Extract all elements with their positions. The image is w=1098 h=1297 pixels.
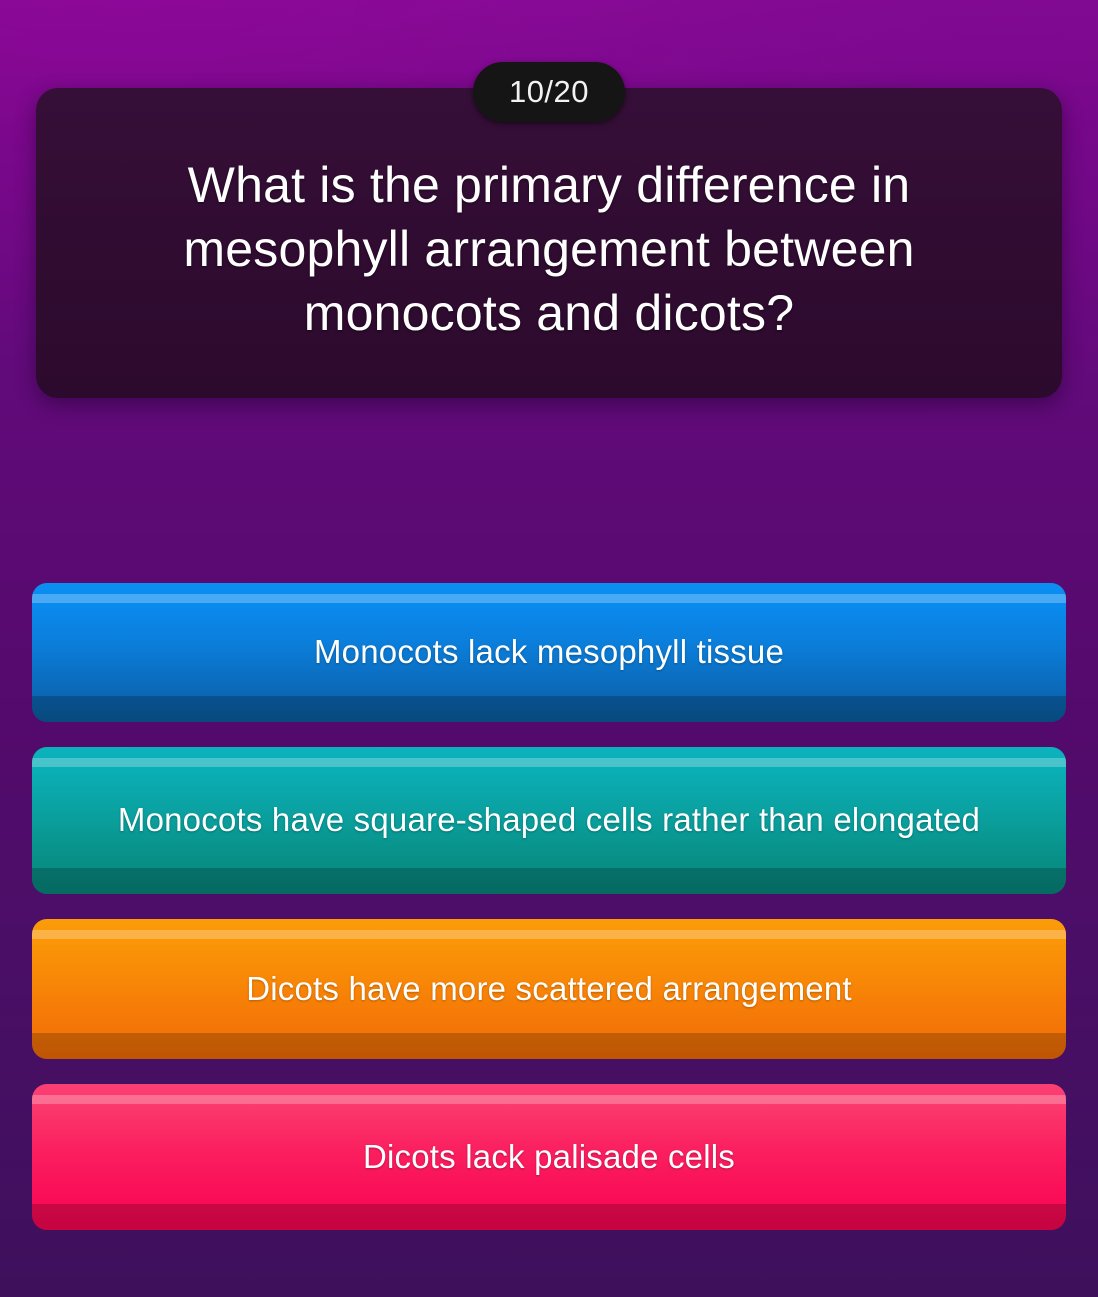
answer-option-b-label: Monocots have square-shaped cells rather… xyxy=(118,797,980,844)
question-card: What is the primary difference in mesoph… xyxy=(36,88,1062,398)
answer-option-d[interactable]: Dicots lack palisade cells xyxy=(32,1084,1066,1230)
answer-options-list: Monocots lack mesophyll tissue Monocots … xyxy=(32,583,1066,1255)
answer-option-c[interactable]: Dicots have more scattered arrangement xyxy=(32,919,1066,1059)
answer-option-b[interactable]: Monocots have square-shaped cells rather… xyxy=(32,747,1066,894)
answer-option-d-label: Dicots lack palisade cells xyxy=(363,1134,735,1181)
question-counter-badge: 10/20 xyxy=(473,62,625,122)
answer-option-a-label: Monocots lack mesophyll tissue xyxy=(314,629,784,676)
quiz-screen: 10/20 What is the primary difference in … xyxy=(0,0,1098,1297)
answer-option-a[interactable]: Monocots lack mesophyll tissue xyxy=(32,583,1066,722)
answer-option-c-label: Dicots have more scattered arrangement xyxy=(246,966,852,1013)
question-text: What is the primary difference in mesoph… xyxy=(70,153,1028,345)
